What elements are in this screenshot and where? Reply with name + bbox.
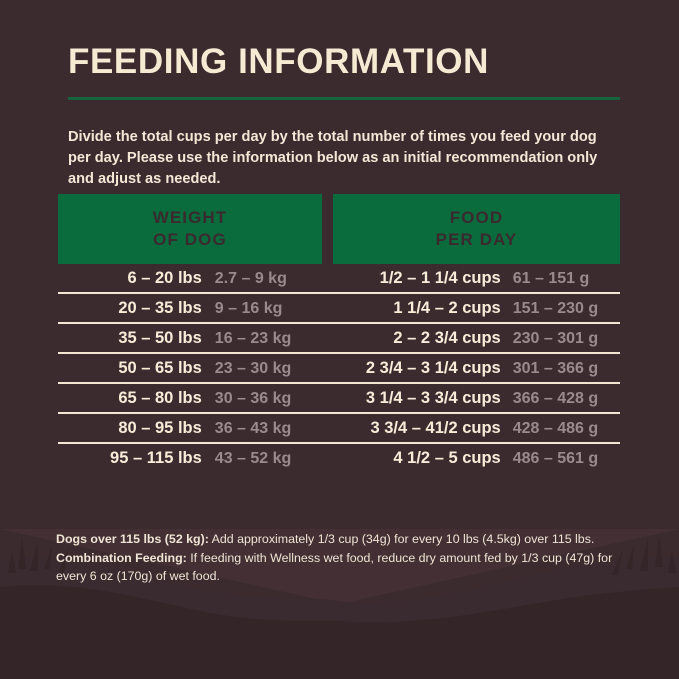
cell-food: 3 1/4 – 3 3/4 cups 366 – 428 g (333, 389, 620, 408)
weight-lbs-value: 65 – 80 lbs (58, 389, 202, 408)
weight-lbs-value: 95 – 115 lbs (58, 449, 202, 468)
feeding-table: WEIGHT OF DOG FOOD PER DAY 6 – 20 lbs 2.… (58, 194, 620, 472)
column-header-food-line2: PER DAY (436, 229, 518, 251)
column-header-food-line1: FOOD (450, 207, 504, 229)
column-header-weight-line1: WEIGHT (153, 207, 228, 229)
food-cups-value: 2 – 2 3/4 cups (333, 329, 501, 348)
cell-weight: 80 – 95 lbs 36 – 43 kg (58, 419, 333, 438)
column-header-weight-line2: OF DOG (153, 229, 227, 251)
cell-weight: 95 – 115 lbs 43 – 52 kg (58, 449, 333, 468)
intro-text: Divide the total cups per day by the tot… (68, 127, 598, 190)
cell-food: 1 1/4 – 2 cups 151 – 230 g (333, 299, 620, 318)
column-header-weight-of-dog: WEIGHT OF DOG (58, 194, 322, 264)
cell-food: 1/2 – 1 1/4 cups 61 – 151 g (333, 269, 620, 288)
food-cups-value: 2 3/4 – 3 1/4 cups (333, 359, 501, 378)
table-row: 35 – 50 lbs 16 – 23 kg 2 – 2 3/4 cups 23… (58, 324, 620, 354)
table-row: 80 – 95 lbs 36 – 43 kg 3 3/4 – 41/2 cups… (58, 414, 620, 444)
cell-weight: 6 – 20 lbs 2.7 – 9 kg (58, 269, 333, 288)
weight-lbs-value: 6 – 20 lbs (58, 269, 202, 288)
footnote-lead-dogs-over-115: Dogs over 115 lbs (52 kg): (56, 532, 209, 546)
food-grams-value: 486 – 561 g (501, 450, 620, 468)
food-grams-value: 151 – 230 g (501, 300, 620, 318)
weight-kg-value: 23 – 30 kg (202, 360, 333, 378)
footnote-text-1: Add approximately 1/3 cup (34g) for ever… (209, 532, 594, 546)
weight-kg-value: 30 – 36 kg (202, 390, 333, 408)
column-header-food-per-day: FOOD PER DAY (333, 194, 620, 264)
weight-kg-value: 43 – 52 kg (202, 450, 333, 468)
cell-food: 4 1/2 – 5 cups 486 – 561 g (333, 449, 620, 468)
page-title: FEEDING INFORMATION (68, 44, 489, 81)
food-grams-value: 301 – 366 g (501, 360, 620, 378)
weight-lbs-value: 35 – 50 lbs (58, 329, 202, 348)
food-grams-value: 61 – 151 g (501, 270, 620, 288)
feeding-information-panel: FEEDING INFORMATION Divide the total cup… (0, 0, 679, 679)
weight-lbs-value: 50 – 65 lbs (58, 359, 202, 378)
food-grams-value: 230 – 301 g (501, 330, 620, 348)
cell-weight: 20 – 35 lbs 9 – 16 kg (58, 299, 333, 318)
weight-kg-value: 16 – 23 kg (202, 330, 333, 348)
table-row: 50 – 65 lbs 23 – 30 kg 2 3/4 – 3 1/4 cup… (58, 354, 620, 384)
table-row: 20 – 35 lbs 9 – 16 kg 1 1/4 – 2 cups 151… (58, 294, 620, 324)
food-grams-value: 366 – 428 g (501, 390, 620, 408)
footnote-lead-combination-feeding: Combination Feeding: (56, 551, 187, 565)
food-grams-value: 428 – 486 g (501, 420, 620, 438)
cell-weight: 50 – 65 lbs 23 – 30 kg (58, 359, 333, 378)
food-cups-value: 1 1/4 – 2 cups (333, 299, 501, 318)
cell-food: 2 3/4 – 3 1/4 cups 301 – 366 g (333, 359, 620, 378)
weight-lbs-value: 20 – 35 lbs (58, 299, 202, 318)
food-cups-value: 4 1/2 – 5 cups (333, 449, 501, 468)
table-row: 6 – 20 lbs 2.7 – 9 kg 1/2 – 1 1/4 cups 6… (58, 264, 620, 294)
food-cups-value: 1/2 – 1 1/4 cups (333, 269, 501, 288)
cell-weight: 65 – 80 lbs 30 – 36 kg (58, 389, 333, 408)
food-cups-value: 3 1/4 – 3 3/4 cups (333, 389, 501, 408)
weight-kg-value: 2.7 – 9 kg (202, 270, 333, 288)
footnote: Dogs over 115 lbs (52 kg): Add approxima… (56, 530, 628, 585)
cell-food: 2 – 2 3/4 cups 230 – 301 g (333, 329, 620, 348)
table-row: 65 – 80 lbs 30 – 36 kg 3 1/4 – 3 3/4 cup… (58, 384, 620, 414)
weight-lbs-value: 80 – 95 lbs (58, 419, 202, 438)
table-header-row: WEIGHT OF DOG FOOD PER DAY (58, 194, 620, 264)
cell-food: 3 3/4 – 41/2 cups 428 – 486 g (333, 419, 620, 438)
food-cups-value: 3 3/4 – 41/2 cups (333, 419, 501, 438)
weight-kg-value: 36 – 43 kg (202, 420, 333, 438)
weight-kg-value: 9 – 16 kg (202, 300, 333, 318)
cell-weight: 35 – 50 lbs 16 – 23 kg (58, 329, 333, 348)
table-row: 95 – 115 lbs 43 – 52 kg 4 1/2 – 5 cups 4… (58, 444, 620, 472)
title-divider (68, 97, 620, 100)
